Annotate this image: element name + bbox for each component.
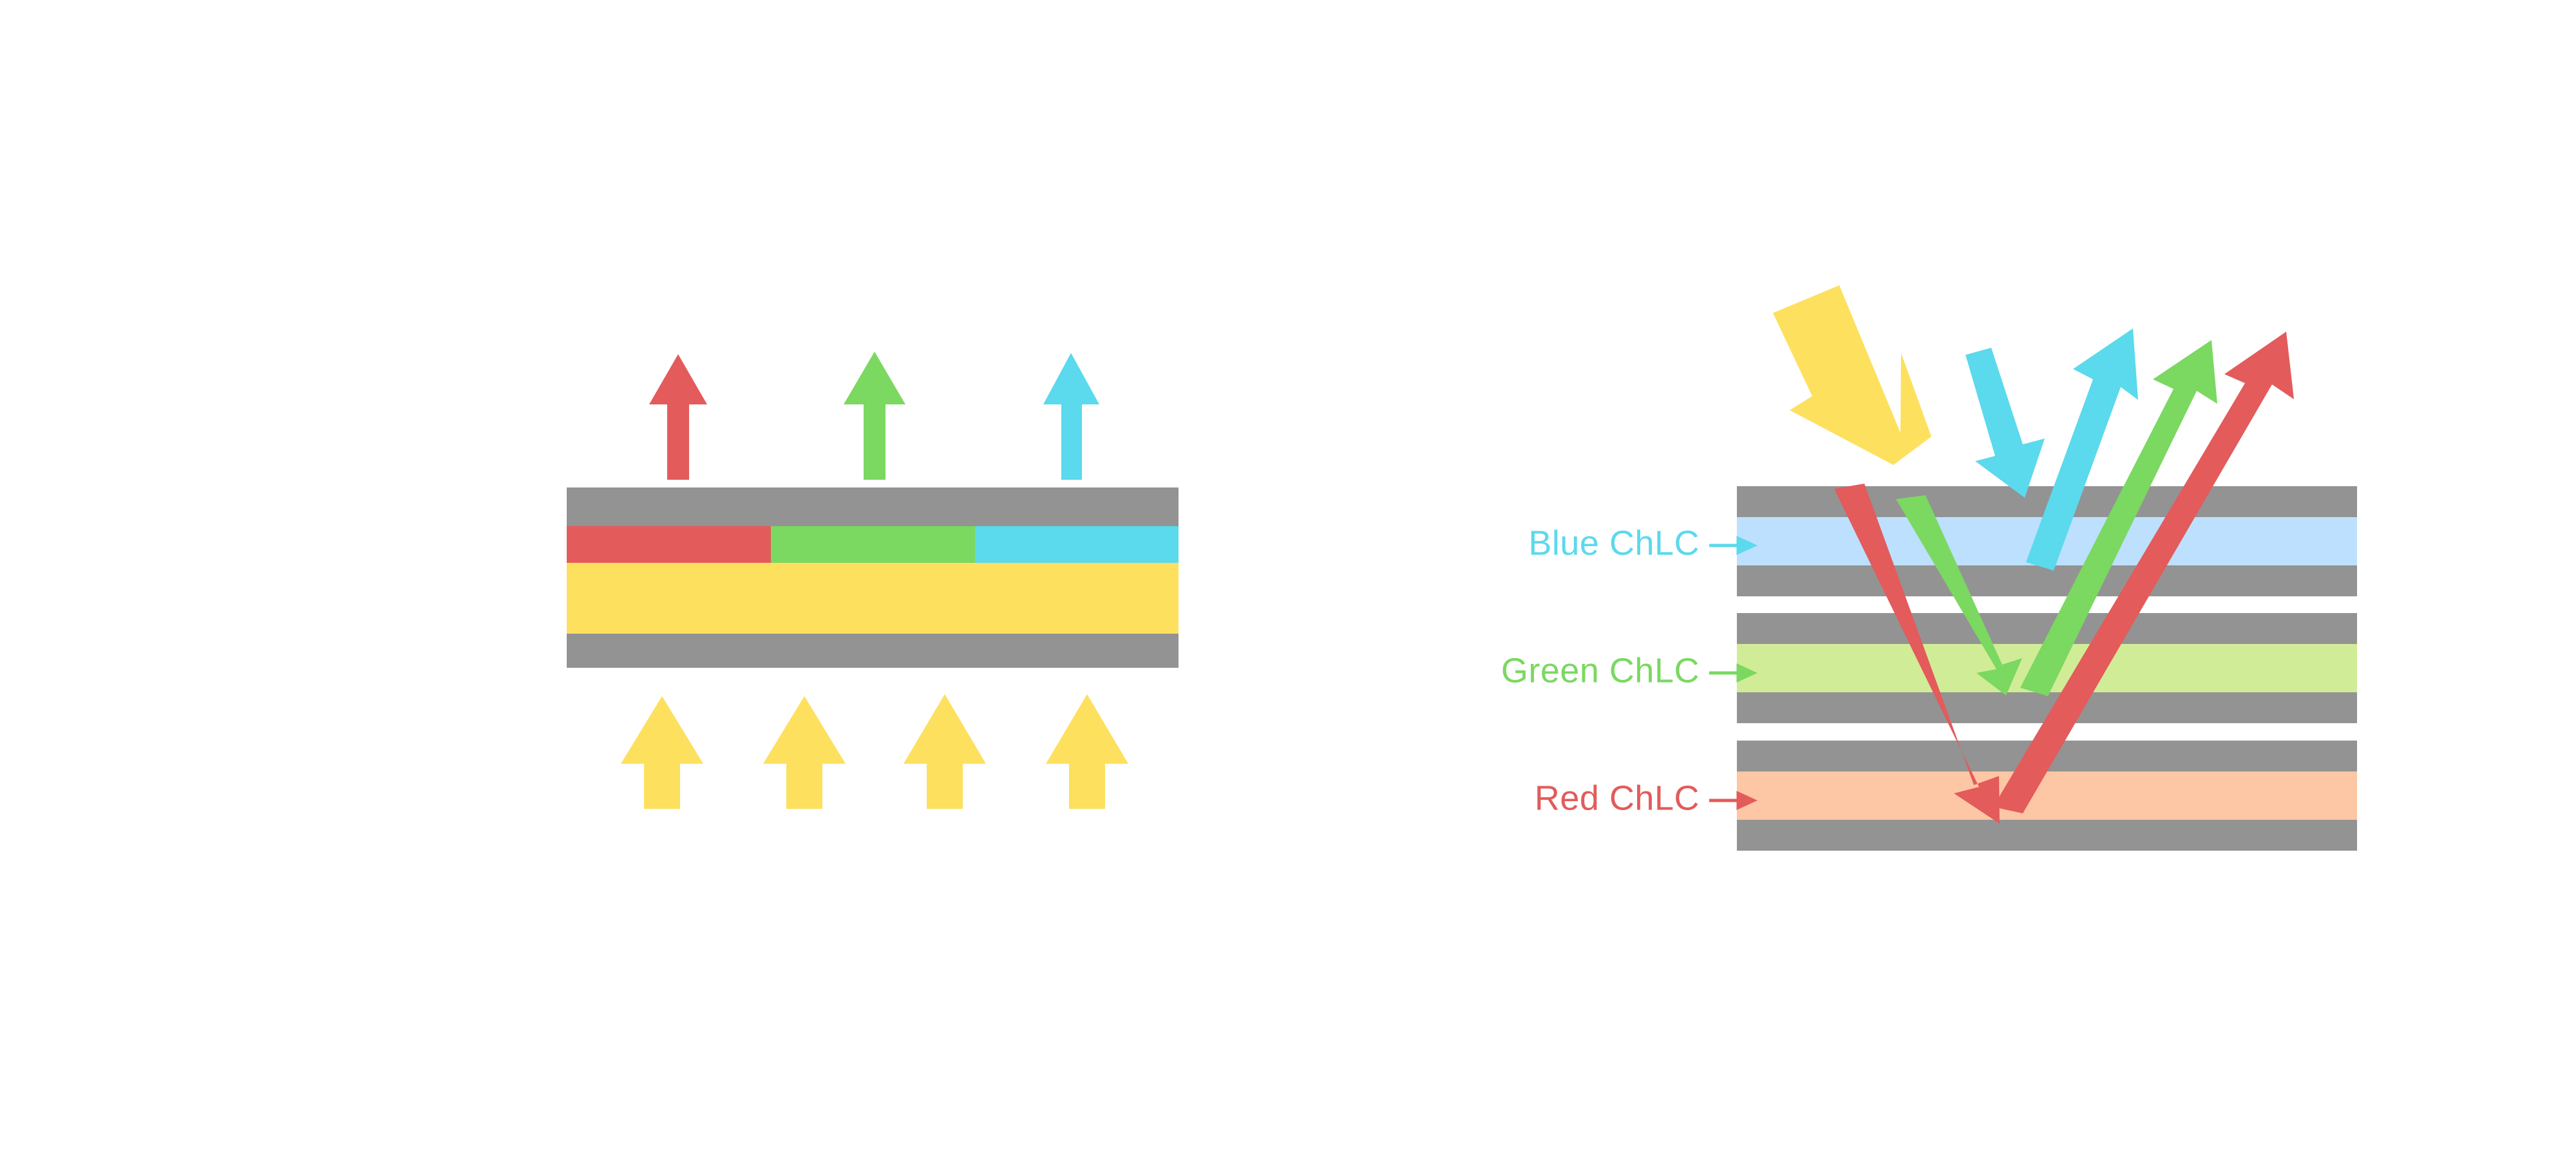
left-color-filter-row [567,526,1179,563]
diagram-root: Blue ChLC Green ChLC Red ChLC [0,0,2576,1154]
left-bottom-electrode [567,634,1179,668]
green-color-filter [771,526,975,563]
blue-chlc-label: Blue ChLC [1528,524,1700,562]
red-color-filter [567,526,771,563]
red-chlc-label: Red ChLC [1535,779,1700,817]
red-cell-bottom-electrode [1737,820,2357,851]
left-backlight-layer [567,563,1179,634]
chlc-display-diagram: Blue ChLC Green ChLC Red ChLC [0,0,2576,1154]
blue-color-filter [975,526,1179,563]
blue-cell-bottom-electrode [1737,565,2357,596]
red-chlc-cell [1737,771,2357,820]
green-chlc-label: Green ChLC [1501,651,1700,690]
left-top-electrode [567,487,1179,526]
